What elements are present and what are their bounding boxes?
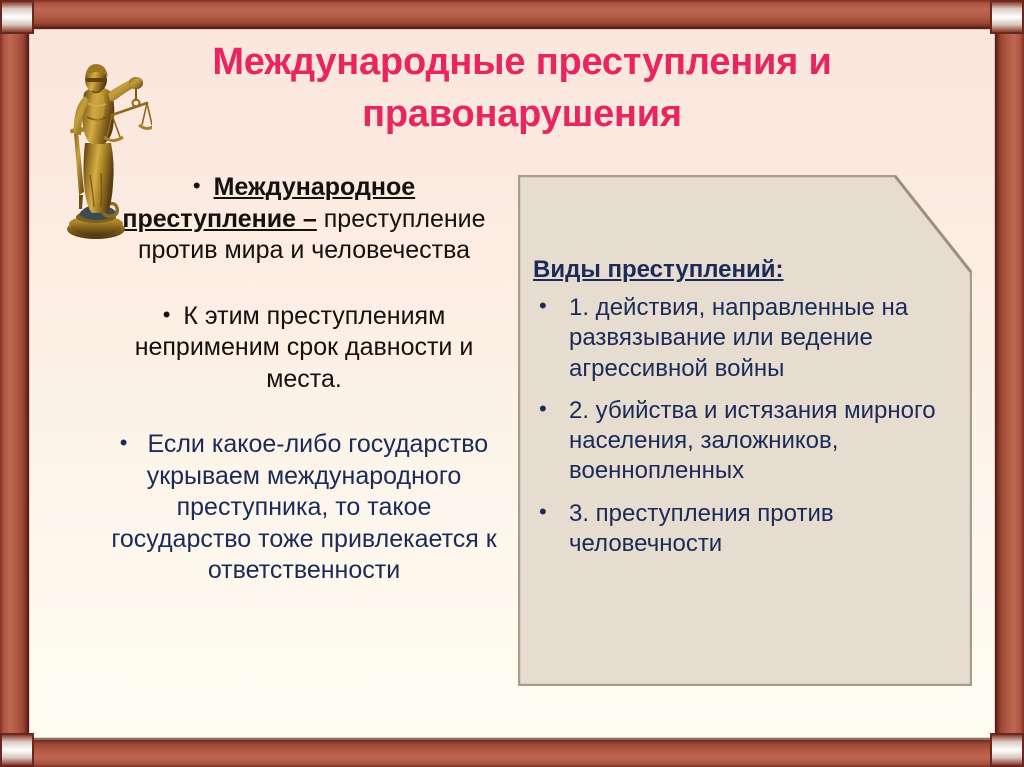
panel-heading: Виды преступлений: xyxy=(531,255,951,285)
bullet-marker-icon: • xyxy=(539,292,547,320)
left-bullet-2: •К этим преступлениям неприменим срок да… xyxy=(108,301,500,396)
list-item: •3. преступления против человечности xyxy=(531,499,951,559)
frame-border-top xyxy=(0,0,1024,29)
left-bullet-3-text: Если какое-либо государство укрываем меж… xyxy=(111,430,496,584)
frame-corner-top-right xyxy=(990,0,1024,34)
left-bullet-1: •Международное преступление – преступлен… xyxy=(108,172,500,267)
left-text-column: •Международное преступление – преступлен… xyxy=(108,172,500,587)
frame-border-left xyxy=(0,0,29,767)
crime-types-list: •1. действия, направленные на развязыван… xyxy=(531,293,951,559)
left-bullet-2-text: К этим преступлениям неприменим срок дав… xyxy=(135,302,474,393)
bullet-marker-icon: • xyxy=(193,173,214,198)
presentation-slide: Международные преступления и правонаруше… xyxy=(0,0,1024,767)
bullet-marker-icon: • xyxy=(539,498,547,526)
bullet-marker-icon: • xyxy=(120,430,141,455)
slide-title: Международные преступления и правонаруше… xyxy=(152,36,892,141)
frame-border-right xyxy=(995,0,1024,767)
lady-justice-statue xyxy=(48,33,152,245)
frame-corner-top-left xyxy=(0,0,34,34)
list-item-text: 3. преступления против человечности xyxy=(569,500,834,557)
list-item: •2. убийства и истязания мирного населен… xyxy=(531,396,951,487)
frame-border-bottom xyxy=(0,738,1024,767)
crime-types-content: Виды преступлений: •1. действия, направл… xyxy=(531,255,951,559)
list-item-text: 1. действия, направленные на развязывани… xyxy=(569,294,908,381)
list-item: •1. действия, направленные на развязыван… xyxy=(531,293,951,384)
frame-corner-bottom-left xyxy=(0,733,34,767)
bullet-marker-icon: • xyxy=(539,395,547,423)
list-item-text: 2. убийства и истязания мирного населени… xyxy=(569,397,936,484)
left-bullet-3: • Если какое-либо государство укрываем м… xyxy=(108,429,500,587)
bullet-marker-icon: • xyxy=(163,302,184,327)
frame-corner-bottom-right xyxy=(990,733,1024,767)
